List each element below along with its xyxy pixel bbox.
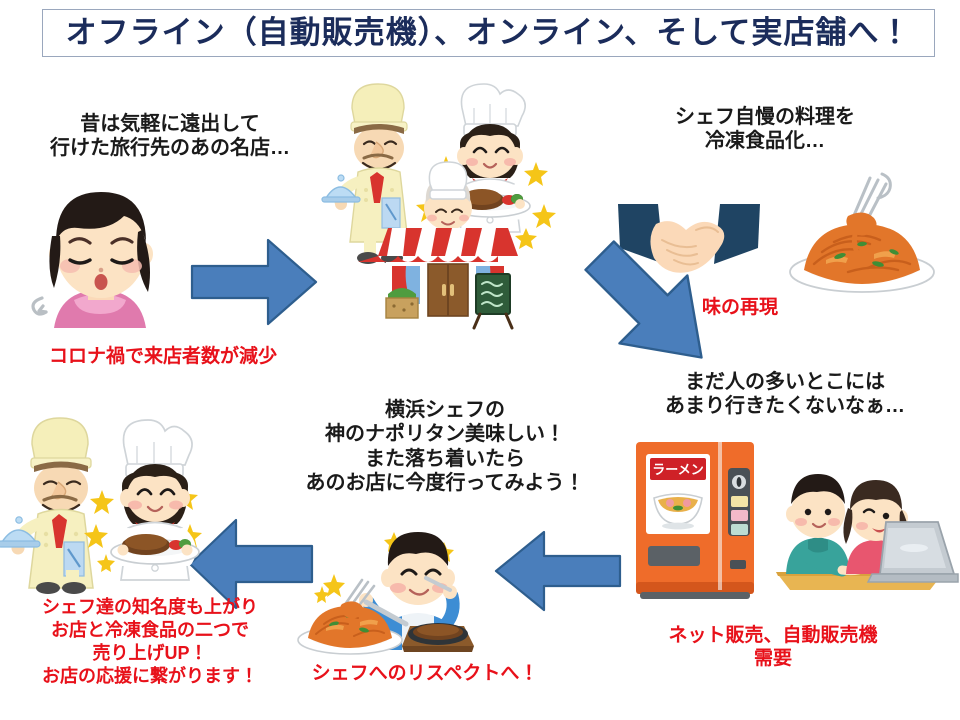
caption-step1-top: 昔は気軽に遠出して 行けた旅行先のあの名店… — [20, 112, 320, 161]
two-chefs-icon — [6, 412, 206, 592]
page-title: オフライン（自動販売機）、オンライン、そして実店舗へ！ — [66, 18, 912, 49]
steak-plate — [402, 623, 474, 652]
caption-step5-bottom: シェフへのリスペクトへ！ — [280, 662, 570, 685]
sad-girl-icon — [12, 180, 192, 340]
waiter-chef-2 — [0, 418, 93, 594]
napolitan-plate-icon — [778, 168, 946, 298]
arrow-down-right-icon — [572, 228, 732, 388]
caption-step4-top: まだ人の多いとこには あまり行きたくないなぁ… — [620, 370, 950, 419]
boy-eating-napolitan-icon — [298, 528, 498, 668]
caption-step6-bottom: シェフ達の知名度も上がり お店と冷凍食品の二つで 売り上げUP！ お店の応援に繋… — [0, 596, 300, 688]
vending-sign-label: ラーメン — [652, 463, 703, 478]
arrow-left-icon-mid — [492, 528, 622, 614]
female-chef-2 — [84, 420, 202, 580]
caption-step3-top: シェフ自慢の料理を 冷凍食品化… — [620, 105, 910, 154]
caption-step1-bottom: コロナ禍で来店者数が減少 — [8, 345, 318, 368]
arrow-right-icon — [190, 232, 320, 332]
couple-with-laptop-icon — [768, 456, 958, 596]
caption-step5-top: 横浜シェフの 神のナポリタン美味しい！ また落ち着いたら あのお店に今度行ってみ… — [250, 398, 640, 496]
restaurant-chefs-icon — [330, 78, 610, 328]
caption-step4-bottom: ネット販売、自動販売機 需要 — [608, 624, 938, 670]
slide-title-box: オフライン（自動販売機）、オンライン、そして実店舗へ！ — [42, 9, 935, 57]
slide-canvas: オフライン（自動販売機）、オンライン、そして実店舗へ！ 昔は気軽に遠出して 行け… — [0, 0, 960, 720]
ramen-vending-machine-icon: ラーメン — [632, 440, 760, 600]
